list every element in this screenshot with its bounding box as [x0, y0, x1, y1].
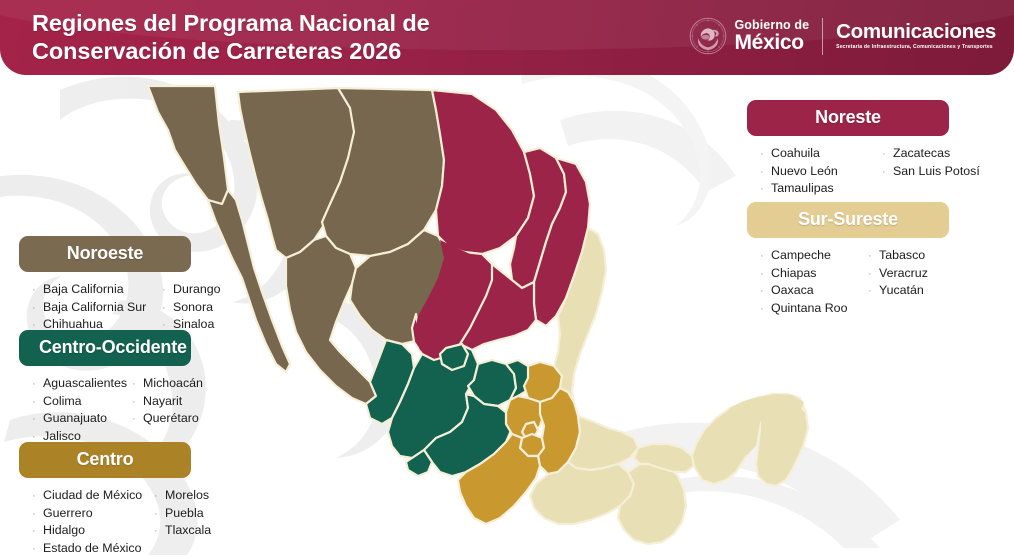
brand-lockup: Gobierno de México Comunicaciones Secret…	[689, 17, 996, 55]
legend-states-noroeste: · Baja California · Baja California Sur …	[19, 281, 221, 334]
list-item: · Tlaxcala	[154, 522, 211, 540]
state-label: Puebla	[165, 505, 204, 523]
state-label: Tlaxcala	[165, 522, 211, 540]
legend-title-sur-sureste[interactable]: Sur-Sureste	[747, 202, 949, 238]
bullet-icon: ·	[868, 284, 879, 300]
legend-title-centro-occidente[interactable]: Centro-Occidente	[19, 330, 191, 366]
list-item: · Coahuila	[760, 145, 882, 163]
state-label: Morelos	[165, 487, 209, 505]
legend-col-1: · Ciudad de México · Guerrero · Hidalgo …	[32, 487, 154, 558]
legend-col-1: · Aguascalientes · Colima · Guanajuato ·…	[32, 375, 132, 446]
list-item: · Guanajuato	[32, 410, 132, 428]
bullet-icon: ·	[760, 284, 771, 300]
legend-col-2: · Zacatecas · San Luis Potosí	[882, 145, 980, 198]
state-label: Colima	[43, 393, 82, 411]
state-label: Baja California	[43, 281, 124, 299]
bullet-icon: ·	[32, 507, 43, 523]
state-label: Baja California Sur	[43, 299, 146, 317]
list-item: · Durango	[162, 281, 221, 299]
gobierno-de-mexico-logo: Gobierno de México	[689, 17, 809, 55]
bullet-icon: ·	[760, 182, 771, 198]
list-item: · Nuevo León	[760, 163, 882, 181]
legend-states-sur-sureste: · Campeche · Chiapas · Oaxaca · Quintana…	[747, 247, 949, 318]
bullet-icon: ·	[882, 147, 893, 163]
bullet-icon: ·	[760, 147, 771, 163]
state-label: Zacatecas	[893, 145, 950, 163]
legend-title-noroeste[interactable]: Noroeste	[19, 236, 191, 272]
state-label: Michoacán	[143, 375, 203, 393]
legend-block-noreste[interactable]: Noreste · Coahuila · Nuevo León · Tamaul…	[747, 100, 980, 198]
page-title: Regiones del Programa Nacional de Conser…	[32, 9, 652, 66]
legend-block-sur-sureste[interactable]: Sur-Sureste · Campeche · Chiapas · Oaxac…	[747, 202, 949, 318]
bullet-icon: ·	[154, 507, 165, 523]
list-item: · Colima	[32, 393, 132, 411]
legend-col-1: · Coahuila · Nuevo León · Tamaulipas	[760, 145, 882, 198]
legend-states-noreste: · Coahuila · Nuevo León · Tamaulipas · Z…	[747, 145, 980, 198]
bullet-icon: ·	[760, 249, 771, 265]
page-title-line-1: Regiones del Programa Nacional de	[32, 9, 652, 37]
legend-block-centro[interactable]: Centro · Ciudad de México · Guerrero · H…	[19, 442, 211, 558]
bullet-icon: ·	[132, 395, 143, 411]
list-item: · Chiapas	[760, 265, 868, 283]
legend-col-2: · Durango · Sonora · Sinaloa	[162, 281, 221, 334]
list-item: · Campeche	[760, 247, 868, 265]
bullet-icon: ·	[760, 302, 771, 318]
bullet-icon: ·	[32, 524, 43, 540]
mexico-coat-of-arms-icon	[689, 17, 727, 55]
legend-col-1: · Campeche · Chiapas · Oaxaca · Quintana…	[760, 247, 868, 318]
list-item: · Sonora	[162, 299, 221, 317]
state-label: Nuevo León	[771, 163, 838, 181]
state-label: Tamaulipas	[771, 180, 834, 198]
legend-block-noroeste[interactable]: Noroeste · Baja California · Baja Califo…	[19, 236, 221, 334]
bullet-icon: ·	[32, 377, 43, 393]
list-item: · Tabasco	[868, 247, 928, 265]
list-item: · Nayarit	[132, 393, 203, 411]
bullet-icon: ·	[32, 283, 43, 299]
bullet-icon: ·	[132, 412, 143, 428]
gobierno-label: Gobierno de	[734, 19, 809, 32]
list-item: · Baja California Sur	[32, 299, 162, 317]
legend-col-2: · Morelos · Puebla · Tlaxcala	[154, 487, 211, 558]
legend-block-centro-occidente[interactable]: Centro-Occidente · Aguascalientes · Coli…	[19, 330, 203, 446]
list-item: · Quintana Roo	[760, 300, 868, 318]
list-item: · Estado de México	[32, 540, 154, 558]
list-item: · Puebla	[154, 505, 211, 523]
list-item: · Yucatán	[868, 282, 928, 300]
list-item: · Ciudad de México	[32, 487, 154, 505]
legend-col-1: · Baja California · Baja California Sur …	[32, 281, 162, 334]
page-title-line-2: Conservación de Carreteras 2026	[32, 37, 652, 65]
bullet-icon: ·	[154, 524, 165, 540]
bullet-icon: ·	[32, 542, 43, 558]
state-label: Quintana Roo	[771, 300, 847, 318]
list-item: · Zacatecas	[882, 145, 980, 163]
list-item: · Aguascalientes	[32, 375, 132, 393]
state-label: Chiapas	[771, 265, 816, 283]
list-item: · Baja California	[32, 281, 162, 299]
bullet-icon: ·	[868, 249, 879, 265]
state-label: Estado de México	[43, 540, 142, 558]
bullet-icon: ·	[32, 412, 43, 428]
state-label: Aguascalientes	[43, 375, 127, 393]
legend-title-centro[interactable]: Centro	[19, 442, 191, 478]
state-label: Querétaro	[143, 410, 199, 428]
gobierno-de-mexico-wordmark: Gobierno de México	[734, 19, 809, 54]
department-subtitle: Secretaría de Infraestructura, Comunicac…	[836, 45, 996, 50]
mexico-label: México	[734, 32, 809, 53]
state-label: Hidalgo	[43, 522, 85, 540]
legend-states-centro: · Ciudad de México · Guerrero · Hidalgo …	[19, 487, 211, 558]
state-label: Durango	[173, 281, 221, 299]
state-label: Ciudad de México	[43, 487, 142, 505]
state-label: San Luis Potosí	[893, 163, 980, 181]
state-label: Veracruz	[879, 265, 928, 283]
bullet-icon: ·	[32, 301, 43, 317]
list-item: · Tamaulipas	[760, 180, 882, 198]
legend-col-2: · Tabasco · Veracruz · Yucatán	[868, 247, 928, 318]
state-label: Sonora	[173, 299, 213, 317]
bullet-icon: ·	[32, 489, 43, 505]
state-label: Tabasco	[879, 247, 925, 265]
list-item: · Veracruz	[868, 265, 928, 283]
state-label: Campeche	[771, 247, 831, 265]
legend-states-centro-occidente: · Aguascalientes · Colima · Guanajuato ·…	[19, 375, 203, 446]
bullet-icon: ·	[760, 267, 771, 283]
list-item: · Querétaro	[132, 410, 203, 428]
department-lockup: Comunicaciones Secretaría de Infraestruc…	[836, 22, 996, 51]
state-baja-california	[148, 86, 228, 204]
page-header: Regiones del Programa Nacional de Conser…	[0, 0, 1014, 75]
state-label: Guanajuato	[43, 410, 107, 428]
vertical-divider-icon	[822, 18, 823, 55]
bullet-icon: ·	[162, 283, 173, 299]
state-label: Coahuila	[771, 145, 820, 163]
list-item: · Morelos	[154, 487, 211, 505]
bullet-icon: ·	[32, 395, 43, 411]
list-item: · Oaxaca	[760, 282, 868, 300]
bullet-icon: ·	[882, 165, 893, 181]
bullet-icon: ·	[162, 301, 173, 317]
list-item: · San Luis Potosí	[882, 163, 980, 181]
legend-title-noreste[interactable]: Noreste	[747, 100, 949, 136]
bullet-icon: ·	[132, 377, 143, 393]
department-name: Comunicaciones	[836, 22, 996, 43]
state-label: Nayarit	[143, 393, 182, 411]
state-chiapas	[618, 462, 686, 544]
bullet-icon: ·	[760, 165, 771, 181]
state-label: Yucatán	[879, 282, 924, 300]
state-coahuila	[432, 90, 534, 254]
list-item: · Hidalgo	[32, 522, 154, 540]
list-item: · Michoacán	[132, 375, 203, 393]
list-item: · Guerrero	[32, 505, 154, 523]
bullet-icon: ·	[154, 489, 165, 505]
state-label: Guerrero	[43, 505, 93, 523]
legend-col-2: · Michoacán · Nayarit · Querétaro	[132, 375, 203, 446]
state-veracruz-sur	[568, 416, 638, 470]
bullet-icon: ·	[868, 267, 879, 283]
state-label: Oaxaca	[771, 282, 814, 300]
